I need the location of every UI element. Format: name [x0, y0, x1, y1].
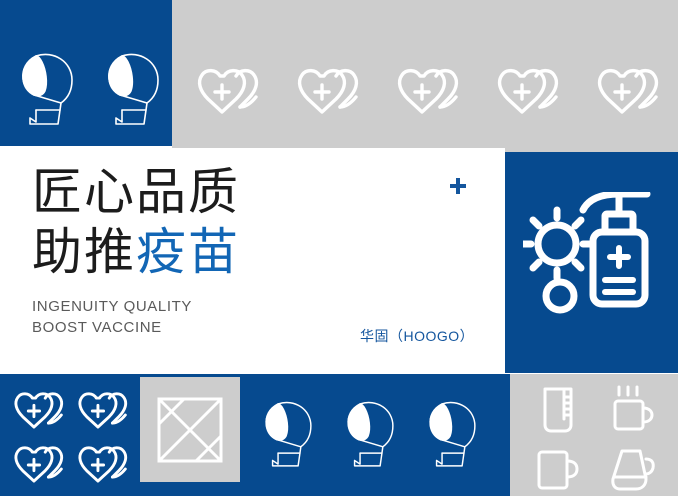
bottom-mask-icon-row [258, 398, 484, 470]
sanitizer-pump-bottle-icon [583, 194, 647, 304]
headline-line-2-accent: 疫苗 [136, 224, 240, 280]
double-heart-plus-icon [296, 66, 368, 118]
masked-head-icon [14, 50, 82, 128]
masked-head-icon [100, 50, 168, 128]
subtitle-line-2: BOOST VACCINE [32, 317, 192, 338]
double-heart-plus-icon [196, 66, 268, 118]
double-heart-plus-icon [13, 443, 71, 487]
headline-panel: 匠心品质 助推疫苗 INGENUITY QUALITY BOOST VACCIN… [0, 148, 505, 360]
double-heart-plus-icon [496, 66, 568, 118]
double-heart-plus-icon [396, 66, 468, 118]
measuring-beaker-icon [537, 385, 579, 435]
subtitle: INGENUITY QUALITY BOOST VACCINE [32, 296, 192, 338]
double-heart-plus-icon [77, 389, 135, 433]
poster-canvas: 匠心品质 助推疫苗 INGENUITY QUALITY BOOST VACCIN… [0, 0, 678, 496]
top-mask-icon-row [14, 50, 168, 128]
bottom-heart-icon-grid [12, 386, 136, 490]
top-heart-icon-row [196, 66, 668, 118]
headline-line-1: 匠心品质 [32, 162, 240, 222]
placeholder-panel [140, 377, 240, 482]
kettle-icon [608, 447, 656, 493]
mug-icon [535, 448, 581, 492]
sanitizer-icon-group [523, 192, 663, 340]
subtitle-line-1: INGENUITY QUALITY [32, 296, 192, 317]
virus-germ-icon [523, 210, 591, 278]
brand-name: 华固（HOOGO） [360, 326, 474, 346]
crossed-box-placeholder-icon [156, 396, 224, 464]
double-heart-plus-icon [77, 443, 135, 487]
middle-white-gap [0, 360, 505, 374]
headline-line-2-prefix: 助推 [32, 224, 136, 280]
masked-head-icon [340, 398, 402, 470]
medical-plus-icon [448, 176, 468, 196]
bottom-ware-icon-grid [524, 384, 666, 496]
headline-line-2: 助推疫苗 [32, 222, 240, 282]
double-heart-plus-icon [596, 66, 668, 118]
double-heart-plus-icon [13, 389, 71, 433]
page-title: 匠心品质 助推疫苗 [32, 162, 240, 282]
masked-head-icon [258, 398, 320, 470]
droplet-ring-icon [546, 282, 574, 310]
right-blue-panel [505, 152, 678, 373]
steaming-mug-icon [609, 385, 655, 435]
masked-head-icon [422, 398, 484, 470]
